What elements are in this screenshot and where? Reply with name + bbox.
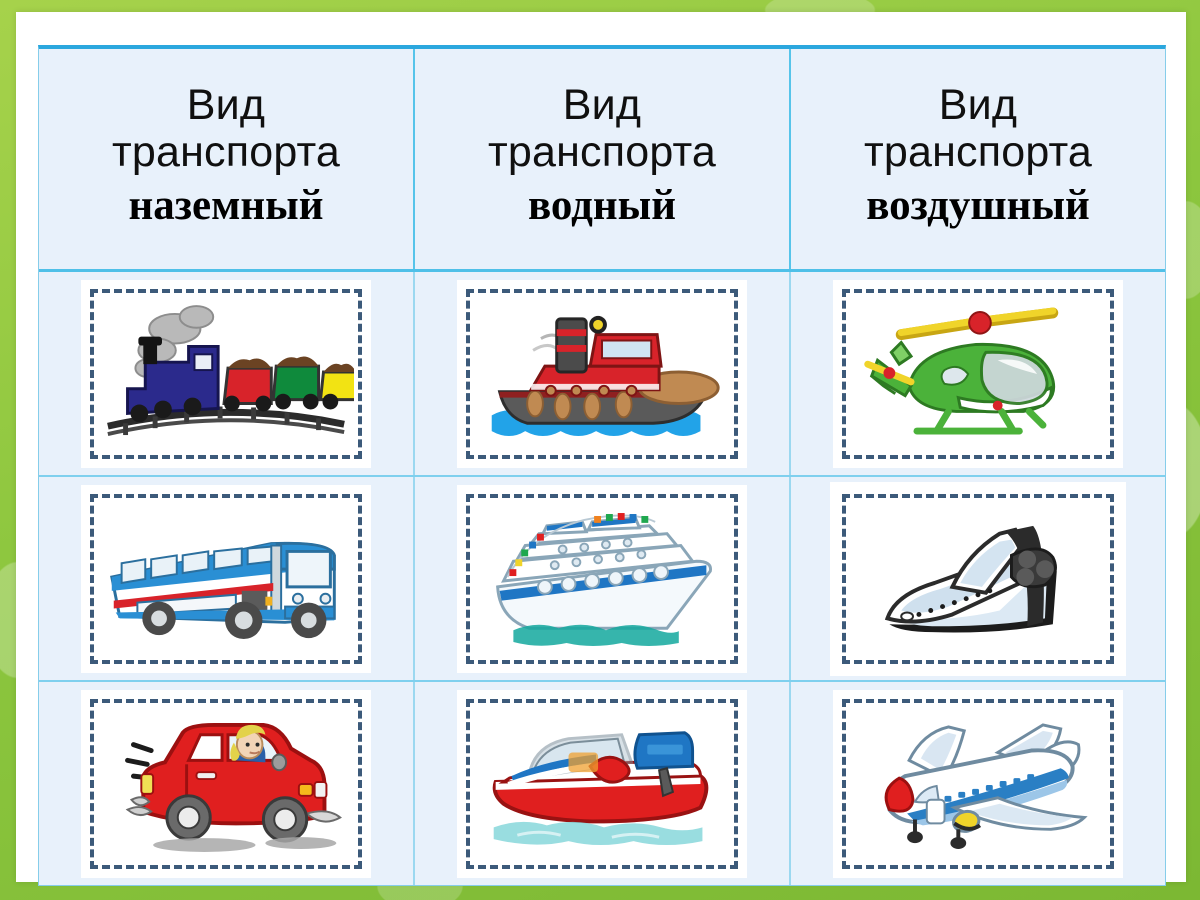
- poster-background: Вид транспорта наземный Вид транспорта в…: [0, 0, 1200, 900]
- cell-water-tugboat[interactable]: [413, 272, 789, 475]
- picture-card[interactable]: [457, 485, 747, 673]
- airplane-icon: [842, 699, 1114, 869]
- cell-ground-bus[interactable]: [39, 477, 413, 680]
- table-row: [39, 272, 1165, 475]
- transport-table: Вид транспорта наземный Вид транспорта в…: [38, 45, 1166, 886]
- picture-card[interactable]: [81, 280, 371, 468]
- cell-air-helicopter[interactable]: [789, 272, 1165, 475]
- header-cell-water: Вид транспорта водный: [413, 49, 789, 269]
- header-cell-ground: Вид транспорта наземный: [39, 49, 413, 269]
- header-title-line1: Вид: [563, 82, 641, 129]
- table-row: [39, 680, 1165, 885]
- cell-water-cruise-ship[interactable]: [413, 477, 789, 680]
- header-title-line1: Вид: [939, 82, 1017, 129]
- picture-card[interactable]: [81, 485, 371, 673]
- cell-ground-train[interactable]: [39, 272, 413, 475]
- cruise-ship-icon: [466, 494, 738, 664]
- cell-water-motorboat[interactable]: [413, 682, 789, 885]
- cell-air-airplane[interactable]: [789, 682, 1165, 885]
- header-title-line2: транспорта: [112, 129, 340, 176]
- helicopter-icon: [842, 289, 1114, 459]
- header-kind-ground: наземный: [128, 182, 323, 230]
- tugboat-icon: [466, 289, 738, 459]
- picture-card[interactable]: [833, 280, 1123, 468]
- picture-card[interactable]: [457, 280, 747, 468]
- steam-train-icon: [90, 289, 362, 459]
- header-title-line2: транспорта: [864, 129, 1092, 176]
- cell-ground-car[interactable]: [39, 682, 413, 885]
- motorboat-icon: [466, 699, 738, 869]
- poster-paper: Вид транспорта наземный Вид транспорта в…: [16, 12, 1186, 882]
- picture-card[interactable]: [81, 690, 371, 878]
- header-kind-air: воздушный: [866, 182, 1090, 230]
- red-car-icon: [90, 699, 362, 869]
- table-row: [39, 475, 1165, 680]
- space-shuttle-icon: [842, 494, 1114, 664]
- table-header-row: Вид транспорта наземный Вид транспорта в…: [39, 49, 1165, 272]
- header-kind-water: водный: [528, 182, 676, 230]
- bus-icon: [90, 494, 362, 664]
- picture-card: [830, 482, 1126, 676]
- header-title-line1: Вид: [187, 82, 265, 129]
- header-cell-air: Вид транспорта воздушный: [789, 49, 1165, 269]
- cell-air-space-shuttle[interactable]: [789, 477, 1165, 680]
- picture-card[interactable]: [833, 690, 1123, 878]
- picture-card[interactable]: [457, 690, 747, 878]
- header-title-line2: транспорта: [488, 129, 716, 176]
